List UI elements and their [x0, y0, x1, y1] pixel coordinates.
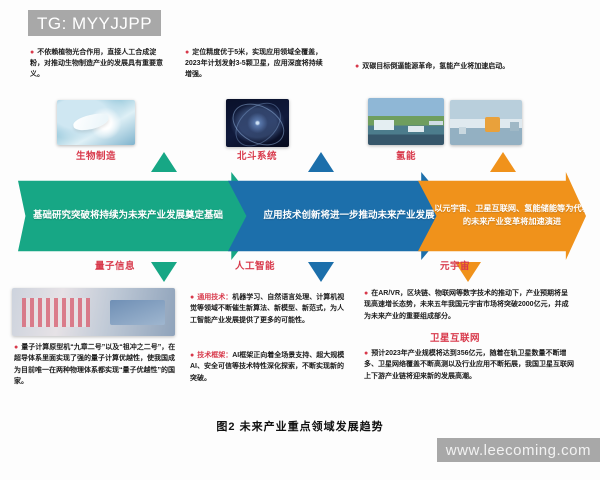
arrow-segment-industry-transformation: 以元宇宙、卫星互联网、氢能储能等为代表的未来产业变革将加速演进: [418, 172, 586, 260]
bullet-icon: ●: [364, 290, 368, 297]
bottom-note-ai-general: ●通用技术：机器学习、自然语言处理、计算机视觉等领域不断催生新算法、新模型、新范…: [190, 292, 350, 326]
arrow-segment-basic-research: 基础研究突破将持续为未来产业发展奠定基础: [18, 172, 266, 260]
bottom-note-ai-framework: ●技术框架：AI框架正向着全场景支持、超大规模AI、安全可信等技术特性深化探索，…: [190, 350, 350, 384]
thumbnail-label-hydrogen: 氢能: [370, 148, 442, 162]
bullet-icon: ●: [355, 63, 359, 70]
top-note-text: 双碳目标倒逼能源革命，氢能产业将加速启动。: [362, 63, 509, 70]
bottom-label-quantum: 量子信息: [60, 258, 170, 272]
notch-up-blue: [308, 152, 334, 172]
notch-up-orange: [490, 152, 516, 172]
thumbnail-beidou-system: [226, 99, 289, 147]
bottom-label-ai: 人工智能: [200, 258, 310, 272]
top-note-hydrogen: ●双碳目标倒逼能源革命，氢能产业将加速启动。: [355, 62, 570, 73]
arrow-segment-text: 以元宇宙、卫星互联网、氢能储能等为代表的未来产业变革将加速演进: [428, 203, 596, 228]
bottom-note-metaverse: ●在AR/VR，区块链、物联网等数字技术的推动下，产业预期将呈现高速增长态势，未…: [364, 288, 574, 322]
top-note-text: 定位精度优于5米，实现应用领域全覆盖，2023年计划发射3-5颗卫星，应用深度将…: [185, 49, 323, 78]
bottom-note-quantum: ●量子计算原型机“九章二号”以及“祖冲之二号”，在超导体系里面实现了强的量子计算…: [14, 342, 180, 387]
bottom-note-text: 在AR/VR，区块链、物联网等数字技术的推动下，产业预期将呈现高速增长态势，未来…: [364, 290, 569, 320]
arrow-band: 基础研究突破将持续为未来产业发展奠定基础 应用技术创新将进一步推动未来产业发展 …: [18, 172, 586, 260]
bottom-note-text: 预计2023年产业规模将达到356亿元，随着在轨卫星数量不断增多、卫星网络覆盖不…: [364, 350, 574, 380]
bottom-note-keyword: 通用技术：: [197, 294, 232, 301]
arrow-segment-text: 应用技术创新将进一步推动未来产业发展: [257, 209, 440, 224]
notch-down-blue: [308, 262, 334, 282]
watermark-top-left: TG: MYYJJPP: [28, 10, 161, 36]
top-note-text: 不依赖植物光合作用，直接人工合成淀粉，对推动生物制造产业的发展具有重要意义。: [30, 49, 163, 78]
top-note-bio-manufacturing: ●不依赖植物光合作用，直接人工合成淀粉，对推动生物制造产业的发展具有重要意义。: [30, 48, 170, 81]
bullet-icon: ●: [364, 350, 368, 357]
thumbnail-hydrogen-station: [450, 100, 522, 145]
thumbnail-hydrogen-plant: [368, 98, 444, 145]
thumbnail-label-bio-manufacturing: 生物制造: [46, 148, 146, 162]
figure-caption: 图2 未来产业重点领域发展趋势: [0, 418, 600, 434]
thumbnail-bio-manufacturing: [57, 100, 135, 145]
bottom-note-satellite-internet: ●预计2023年产业规模将达到356亿元，随着在轨卫星数量不断增多、卫星网络覆盖…: [364, 348, 574, 382]
bullet-icon: ●: [14, 344, 18, 351]
bullet-icon: ●: [190, 352, 194, 359]
bullet-icon: ●: [190, 294, 194, 301]
top-note-beidou: ●定位精度优于5米，实现应用领域全覆盖，2023年计划发射3-5颗卫星，应用深度…: [185, 48, 325, 81]
bullet-icon: ●: [185, 49, 189, 56]
bottom-note-keyword: 技术框架：: [197, 352, 232, 359]
bottom-note-text: 量子计算原型机“九章二号”以及“祖冲之二号”，在超导体系里面实现了强的量子计算优…: [14, 344, 175, 385]
bottom-label-metaverse: 元宇宙: [410, 258, 500, 272]
arrow-segment-text: 基础研究突破将持续为未来产业发展奠定基础: [27, 209, 229, 224]
watermark-bottom-right: www.leecoming.com: [437, 438, 600, 462]
bottom-image-quantum-computer: [12, 288, 175, 336]
notch-up-green: [151, 152, 177, 172]
bottom-label-satellite-internet: 卫星互联网: [410, 330, 500, 344]
bullet-icon: ●: [30, 49, 34, 56]
figure-canvas: TG: MYYJJPP www.leecoming.com ●不依赖植物光合作用…: [0, 0, 600, 480]
thumbnail-label-beidou-system: 北斗系统: [207, 148, 307, 162]
